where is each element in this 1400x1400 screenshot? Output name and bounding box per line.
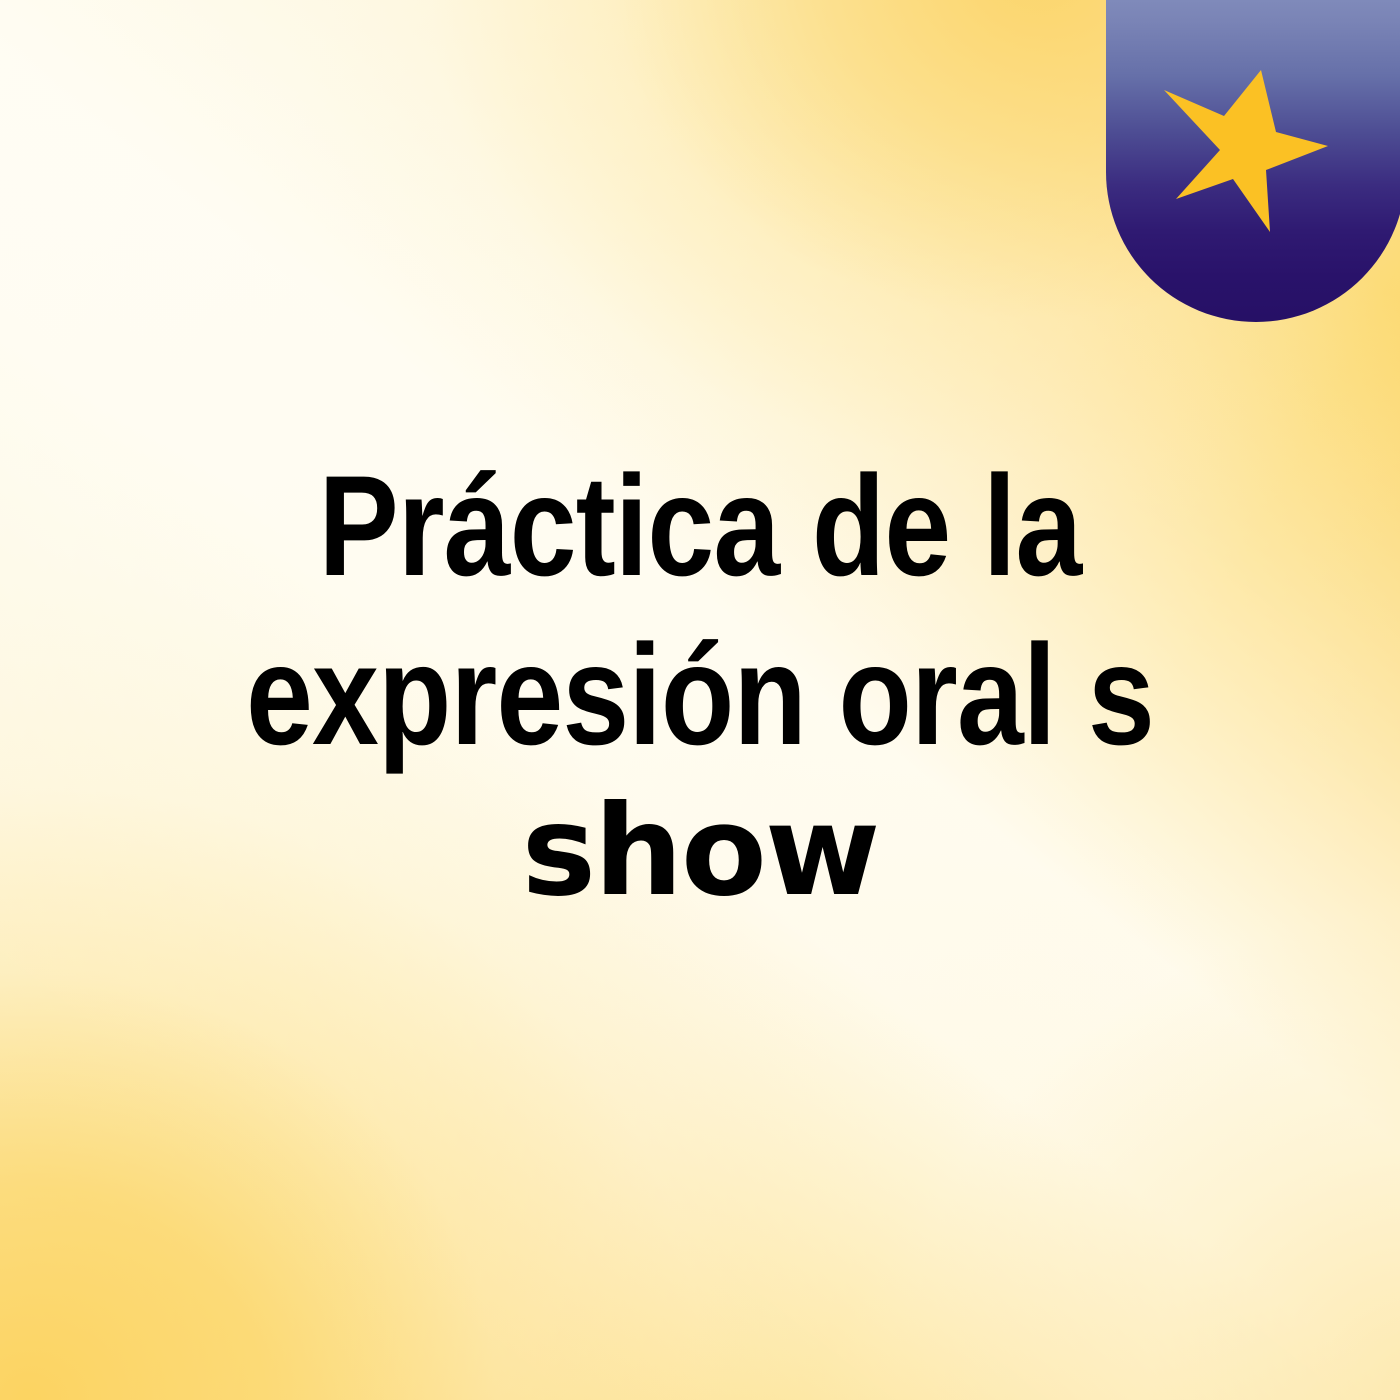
slide-title: Práctica de la expresión oral s show	[0, 455, 1400, 914]
title-line-1: Práctica de la	[112, 455, 1288, 598]
star-badge	[1106, 0, 1400, 322]
title-line-2: expresión oral s	[112, 624, 1288, 767]
title-line-3: show	[0, 789, 1400, 914]
slide-canvas: Práctica de la expresión oral s show	[0, 0, 1400, 1400]
star-icon	[1158, 64, 1328, 234]
